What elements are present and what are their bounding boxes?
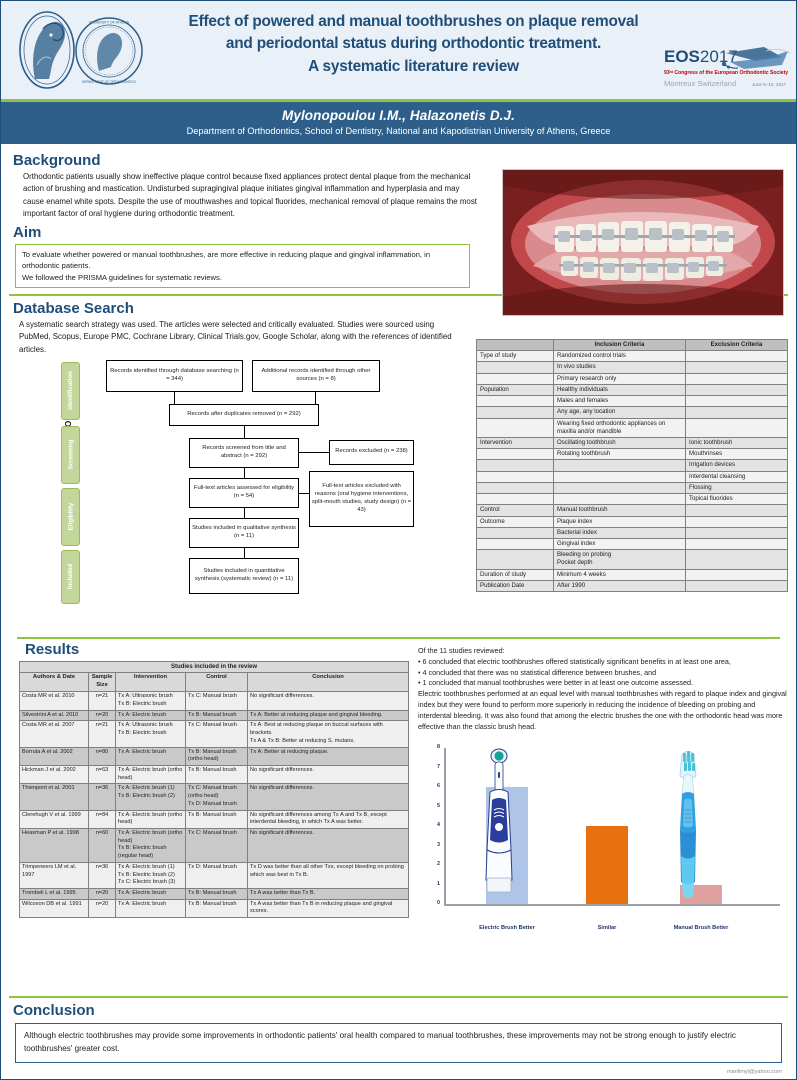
table-cell-n: n=20 <box>89 710 116 721</box>
criteria-body: Type of studyRandomized control trialsIn… <box>477 351 788 592</box>
table-cell-intervention: Tx A: Electric brush (ortho head) <box>116 765 186 783</box>
criteria-cell <box>686 373 788 384</box>
table-cell-authors: Heasman P et al. 1998 <box>20 829 89 863</box>
table-cell-conclusion: No significant differences. <box>248 829 409 863</box>
criteria-cell: Oscillating toothbrush <box>554 437 686 448</box>
table-cell-control: Tx D: Manual brush <box>186 862 248 888</box>
col-authors: Authors & Date <box>20 673 89 692</box>
col-intervention: Intervention <box>116 673 186 692</box>
table-cell-conclusion: Tx A was better than Tx B in reducing pl… <box>248 899 409 917</box>
criteria-row: Duration of studyMinimum 4 weeks <box>477 569 788 580</box>
criteria-cell <box>686 505 788 516</box>
prisma-stage-identification: Identification <box>61 362 80 420</box>
criteria-cell <box>686 580 788 591</box>
criteria-row: InterventionOscillating toothbrushIonic … <box>477 437 788 448</box>
author-names: Mylonopoulou I.M., Halazonetis D.J. <box>1 108 796 123</box>
table-cell-authors: Silvestrini A et al. 2010 <box>20 710 89 721</box>
criteria-cell <box>686 407 788 418</box>
table-cell-n: n=80 <box>89 747 116 765</box>
summary-bullet-2: • 4 concluded that there was no statisti… <box>418 668 788 679</box>
title-line-1: Effect of powered and manual toothbrushe… <box>189 13 639 30</box>
table-cell-conclusion: Tx A: Best at reducing plaque on buccal … <box>248 721 409 747</box>
summary-paragraph: Electric toothbrushes performed at an eq… <box>418 689 788 732</box>
studies-body: Costa MR et al. 2010n=21Tx A: Ultrasonic… <box>20 692 409 918</box>
col-sample-size: Sample Size <box>89 673 116 692</box>
table-cell-control: Tx B: Manual brush <box>186 810 248 828</box>
criteria-cell: Bleeding on probing Pocket depth <box>554 550 686 569</box>
prisma-stage-included: Included <box>61 550 80 604</box>
chart-y-tick: 6 <box>418 783 440 789</box>
title-line-3: A systematic literature review <box>308 58 519 75</box>
poster-root: UNIVERSITY OF ATHENS DEPARTMENT OF ORTHO… <box>0 0 797 1080</box>
table-cell-n: n=60 <box>89 829 116 863</box>
criteria-cell <box>477 527 554 538</box>
criteria-row: Gingival index <box>477 538 788 549</box>
criteria-cell: Healthy individuals <box>554 384 686 395</box>
criteria-cell <box>554 460 686 471</box>
criteria-cell <box>477 407 554 418</box>
criteria-cell: Males and females <box>554 396 686 407</box>
table-row: Silvestrini A et al. 2010n=20Tx A: Elect… <box>20 710 409 721</box>
studies-table: Studies included in the review Authors &… <box>19 661 409 918</box>
table-cell-n: n=36 <box>89 862 116 888</box>
criteria-row: In vivo studies <box>477 362 788 373</box>
table-row: Costa MR et al. 2007n=21Tx A: Ultrasonic… <box>20 721 409 747</box>
table-cell-intervention: Tx A: Electric brush (ortho head) <box>116 810 186 828</box>
section-heading-results: Results <box>25 641 79 658</box>
table-cell-conclusion: No significant differences. <box>248 784 409 810</box>
svg-text:DEPARTMENT OF ORTHODONTICS: DEPARTMENT OF ORTHODONTICS <box>82 80 136 84</box>
table-cell-authors: Hickman J et al. 2002 <box>20 765 89 783</box>
criteria-cell: Plaque index <box>554 516 686 527</box>
outcome-bar-chart: 012345678 Electric Brush BetterSimilarMa… <box>418 744 788 934</box>
criteria-row: Primary research only <box>477 373 788 384</box>
col-control: Control <box>186 673 248 692</box>
aim-line-1: To evaluate whether powered or manual to… <box>22 249 463 272</box>
criteria-cell <box>686 527 788 538</box>
table-cell-intervention: Tx A: Electric brush (1) Tx B: Electric … <box>116 784 186 810</box>
prisma-stage-screening: Screening <box>61 426 80 484</box>
table-cell-n: n=20 <box>89 899 116 917</box>
table-cell-authors: Costa MR et al. 2007 <box>20 721 89 747</box>
table-row: Clerehugh V et al. 1999n=84Tx A: Electri… <box>20 810 409 828</box>
manual-toothbrush-icon <box>670 748 706 906</box>
chart-x-axis <box>444 904 780 906</box>
aim-line-2: We followed the PRISMA guidelines for sy… <box>22 272 463 283</box>
table-cell-intervention: Tx A: Electric brush <box>116 889 186 900</box>
table-row: Trombeli L et al. 1995n=20Tx A: Electric… <box>20 889 409 900</box>
criteria-cell <box>686 351 788 362</box>
criteria-cell <box>554 482 686 493</box>
criteria-cell: Intervention <box>477 437 554 448</box>
table-row: Costa MR et al. 2010n=21Tx A: Ultrasonic… <box>20 692 409 710</box>
chart-x-label: Similar <box>572 925 642 932</box>
criteria-row: Bacterial index <box>477 527 788 538</box>
criteria-cell: Mouthrinses <box>686 449 788 460</box>
table-cell-intervention: Tx A: Electric brush (ortho head) Tx B: … <box>116 829 186 863</box>
criteria-cell <box>686 396 788 407</box>
studies-header-row: Authors & Date Sample Size Intervention … <box>20 673 409 692</box>
table-cell-n: n=63 <box>89 765 116 783</box>
summary-bullet-1: • 6 concluded that electric toothbrushes… <box>418 657 788 668</box>
results-summary-column: Of the 11 studies reviewed: • 6 conclude… <box>418 646 788 934</box>
table-row: Trimpeneers LM et al. 1997n=36Tx A: Elec… <box>20 862 409 888</box>
chart-x-label: Electric Brush Better <box>472 925 542 932</box>
chart-y-tick: 5 <box>418 803 440 809</box>
criteria-cell <box>686 550 788 569</box>
table-cell-authors: Clerehugh V et al. 1999 <box>20 810 89 828</box>
criteria-cell <box>686 362 788 373</box>
svg-text:UNIVERSITY OF ATHENS: UNIVERSITY OF ATHENS <box>89 21 130 25</box>
criteria-cell <box>477 396 554 407</box>
chart-y-tick: 2 <box>418 861 440 867</box>
criteria-cell <box>477 538 554 549</box>
chart-x-label: Manual Brush Better <box>666 925 736 932</box>
contact-email: marilimyl@yahoo.com <box>727 1069 782 1075</box>
prisma-box-fulltext-assessed: Full-text articles assessed for eligibil… <box>189 478 299 508</box>
criteria-cell <box>686 516 788 527</box>
table-cell-conclusion: Tx A: Better at reducing plaque and ging… <box>248 710 409 721</box>
intraoral-photo-image <box>503 170 783 315</box>
criteria-col-exclusion: Exclusion Criteria <box>686 340 788 351</box>
prisma-box-records-excluded: Records excluded (n = 238) <box>329 440 414 465</box>
criteria-cell: Bacterial index <box>554 527 686 538</box>
criteria-cell <box>554 471 686 482</box>
background-text: Orthodontic patients usually show ineffe… <box>23 171 478 220</box>
criteria-cell: Gingival index <box>554 538 686 549</box>
criteria-cell: Minimum 4 weeks <box>554 569 686 580</box>
table-cell-conclusion: Tx A: Better at reducing plaque. <box>248 747 409 765</box>
chart-y-tick: 1 <box>418 881 440 887</box>
criteria-row: Topical fluorides <box>477 494 788 505</box>
criteria-row: PopulationHealthy individuals <box>477 384 788 395</box>
aim-box: To evaluate whether powered or manual to… <box>15 244 470 288</box>
criteria-header-row: Inclusion Criteria Exclusion Criteria <box>477 340 788 351</box>
chart-bar <box>586 826 628 904</box>
criteria-row: ControlManual toothbrush <box>477 505 788 516</box>
table-cell-authors: Trombeli L et al. 1995 <box>20 889 89 900</box>
criteria-cell <box>686 384 788 395</box>
criteria-cell: Manual toothbrush <box>554 505 686 516</box>
criteria-table: Inclusion Criteria Exclusion Criteria Ty… <box>476 339 788 592</box>
table-cell-control: Tx B: Manual brush <box>186 889 248 900</box>
table-cell-conclusion: No significant differences. <box>248 692 409 710</box>
col-conclusion: Conclusion <box>248 673 409 692</box>
chart-y-tick: 3 <box>418 842 440 848</box>
prisma-stage-label: Eligibility <box>67 503 74 531</box>
table-row: Hickman J et al. 2002n=63Tx A: Electric … <box>20 765 409 783</box>
criteria-cell: Flossing <box>686 482 788 493</box>
table-cell-intervention: Tx A: Electric brush <box>116 747 186 765</box>
table-row: Thienpont et al. 2001n=36Tx A: Electric … <box>20 784 409 810</box>
table-cell-n: n=20 <box>89 889 116 900</box>
criteria-cell <box>554 494 686 505</box>
criteria-cell <box>477 362 554 373</box>
table-cell-authors: Costa MR et al. 2010 <box>20 692 89 710</box>
prisma-flow-diagram: PRISMA FLOW DIAGRAM Identification Scree… <box>9 356 479 608</box>
table-cell-intervention: Tx A: Electric brush (1) Tx B: Electric … <box>116 862 186 888</box>
table-cell-conclusion: No significant differences. <box>248 765 409 783</box>
criteria-cell: Type of study <box>477 351 554 362</box>
criteria-row: OutcomePlaque index <box>477 516 788 527</box>
criteria-cell: Rotating toothbrush <box>554 449 686 460</box>
criteria-row: Publication DateAfter 1990 <box>477 580 788 591</box>
criteria-cell: Interdental cleansing <box>686 471 788 482</box>
athena-emblem-icon <box>15 9 79 91</box>
criteria-cell: Control <box>477 505 554 516</box>
criteria-cell: Publication Date <box>477 580 554 591</box>
chart-y-tick: 8 <box>418 744 440 750</box>
criteria-row: Type of studyRandomized control trials <box>477 351 788 362</box>
table-cell-n: n=21 <box>89 721 116 747</box>
criteria-row: Rotating toothbrushMouthrinses <box>477 449 788 460</box>
table-cell-control: Tx B: Manual brush <box>186 765 248 783</box>
table-cell-authors: Thienpont et al. 2001 <box>20 784 89 810</box>
criteria-cell <box>686 418 788 437</box>
criteria-cell <box>477 449 554 460</box>
table-cell-n: n=84 <box>89 810 116 828</box>
table-cell-conclusion: Tx A was better than Tx B. <box>248 889 409 900</box>
eos-congress-logo: EOS2017 93ʳᵈ Congress of the European Or… <box>664 45 792 97</box>
table-cell-control: Tx C: Manual brush <box>186 721 248 747</box>
prisma-box-quantitative: Studies included in quantitative synthes… <box>189 558 299 594</box>
prisma-box-qualitative: Studies included in qualitative synthesi… <box>189 518 299 548</box>
section-heading-conclusion: Conclusion <box>13 1002 796 1019</box>
table-cell-authors: Wilcoxon DB et al. 1991 <box>20 899 89 917</box>
criteria-cell: Ionic toothbrush <box>686 437 788 448</box>
table-cell-n: n=36 <box>89 784 116 810</box>
criteria-cell <box>686 538 788 549</box>
criteria-cell: Population <box>477 384 554 395</box>
criteria-cell <box>477 418 554 437</box>
criteria-cell <box>477 494 554 505</box>
author-bar: Mylonopoulou I.M., Halazonetis D.J. Depa… <box>1 102 796 144</box>
criteria-cell: Wearing fixed orthodontic appliances on … <box>554 418 686 437</box>
criteria-cell: Duration of study <box>477 569 554 580</box>
prisma-stage-label: Included <box>67 564 74 589</box>
table-row: Borruta A et al. 2002n=80Tx A: Electric … <box>20 747 409 765</box>
conclusion-box: Although electric toothbrushes may provi… <box>15 1023 782 1063</box>
page-title: Effect of powered and manual toothbrushe… <box>151 11 676 78</box>
criteria-row: Flossing <box>477 482 788 493</box>
table-cell-control: Tx C: Manual brush <box>186 692 248 710</box>
university-seal-icon: UNIVERSITY OF ATHENS DEPARTMENT OF ORTHO… <box>73 15 145 87</box>
chart-y-axis <box>444 748 446 906</box>
chart-y-tick: 0 <box>418 900 440 906</box>
criteria-cell: Irrigation devices <box>686 460 788 471</box>
svg-text:Montreux Switzerland: Montreux Switzerland <box>664 79 736 88</box>
summary-intro: Of the 11 studies reviewed: <box>418 646 788 657</box>
criteria-cell: Any age, any location <box>554 407 686 418</box>
prisma-box-records-screened: Records screened from title and abstract… <box>189 438 299 468</box>
svg-text:June 5–10, 2017: June 5–10, 2017 <box>752 82 787 87</box>
summary-bullet-3: • 1 concluded that manual toothbrushes w… <box>418 678 788 689</box>
table-cell-authors: Trimpeneers LM et al. 1997 <box>20 862 89 888</box>
criteria-cell: In vivo studies <box>554 362 686 373</box>
svg-text:93ʳᵈ Congress of the European: 93ʳᵈ Congress of the European Orthodonti… <box>664 70 788 76</box>
table-cell-control: Tx C: Manual brush (ortho head) Tx D: Ma… <box>186 784 248 810</box>
chart-y-tick: 7 <box>418 764 440 770</box>
table-cell-control: Tx C: Manual brush <box>186 829 248 863</box>
criteria-row: Wearing fixed orthodontic appliances on … <box>477 418 788 437</box>
table-cell-intervention: Tx A: Ultrasonic brush Tx B: Electric br… <box>116 721 186 747</box>
criteria-cell <box>477 550 554 569</box>
intraoral-photo <box>502 169 784 316</box>
criteria-row: Any age, any location <box>477 407 788 418</box>
table-cell-control: Tx B: Manual brush (ortho head) <box>186 747 248 765</box>
criteria-row: Interdental cleansing <box>477 471 788 482</box>
criteria-cell: After 1990 <box>554 580 686 591</box>
criteria-row: Bleeding on probing Pocket depth <box>477 550 788 569</box>
criteria-row: Irrigation devices <box>477 460 788 471</box>
criteria-cell <box>686 569 788 580</box>
prisma-stage-label: Identification <box>67 372 74 411</box>
electric-toothbrush-icon <box>476 748 522 898</box>
criteria-cell <box>477 482 554 493</box>
criteria-cell: Primary research only <box>554 373 686 384</box>
table-cell-conclusion: No significant differences among Tx A an… <box>248 810 409 828</box>
criteria-row: Males and females <box>477 396 788 407</box>
table-row: Wilcoxon DB et al. 1991n=20Tx A: Electri… <box>20 899 409 917</box>
table-cell-intervention: Tx A: Electric brush <box>116 899 186 917</box>
prisma-stage-eligibility: Eligibility <box>61 488 80 546</box>
prisma-box-fulltext-excluded: Full-text articles excluded with reasons… <box>309 471 414 527</box>
criteria-cell <box>477 373 554 384</box>
criteria-cell <box>477 460 554 471</box>
database-text: A systematic search strategy was used. T… <box>19 319 467 356</box>
author-affiliation: Department of Orthodontics, School of De… <box>1 126 796 136</box>
criteria-col-blank <box>477 340 554 351</box>
criteria-cell: Outcome <box>477 516 554 527</box>
svg-text:EOS2017: EOS2017 <box>664 47 738 66</box>
table-cell-intervention: Tx A: Electric brush <box>116 710 186 721</box>
prisma-box-after-duplicates: Records after duplicates removed (n = 29… <box>169 404 319 426</box>
prisma-stage-label: Screening <box>67 440 74 470</box>
chart-y-tick: 4 <box>418 822 440 828</box>
table-cell-intervention: Tx A: Ultrasonic brush Tx B: Electric br… <box>116 692 186 710</box>
section-heading-background: Background <box>13 152 796 169</box>
table-cell-control: Tx B: Manual brush <box>186 899 248 917</box>
criteria-col-inclusion: Inclusion Criteria <box>554 340 686 351</box>
criteria-cell: Randomized control trials <box>554 351 686 362</box>
criteria-cell <box>477 471 554 482</box>
title-line-2: and periodontal status during orthodonti… <box>226 35 601 52</box>
table-cell-conclusion: Tx D was better than all other Txs, exce… <box>248 862 409 888</box>
poster-header: UNIVERSITY OF ATHENS DEPARTMENT OF ORTHO… <box>1 1 796 102</box>
table-cell-control: Tx B: Manual brush <box>186 710 248 721</box>
table-cell-authors: Borruta A et al. 2002 <box>20 747 89 765</box>
table-row: Heasman P et al. 1998n=60Tx A: Electric … <box>20 829 409 863</box>
table-cell-n: n=21 <box>89 692 116 710</box>
prisma-box-additional-records: Additional records identified through ot… <box>252 360 380 392</box>
prisma-box-records-identified: Records identified through database sear… <box>106 360 243 392</box>
studies-table-title: Studies included in the review <box>20 662 409 673</box>
criteria-cell: Topical fluorides <box>686 494 788 505</box>
